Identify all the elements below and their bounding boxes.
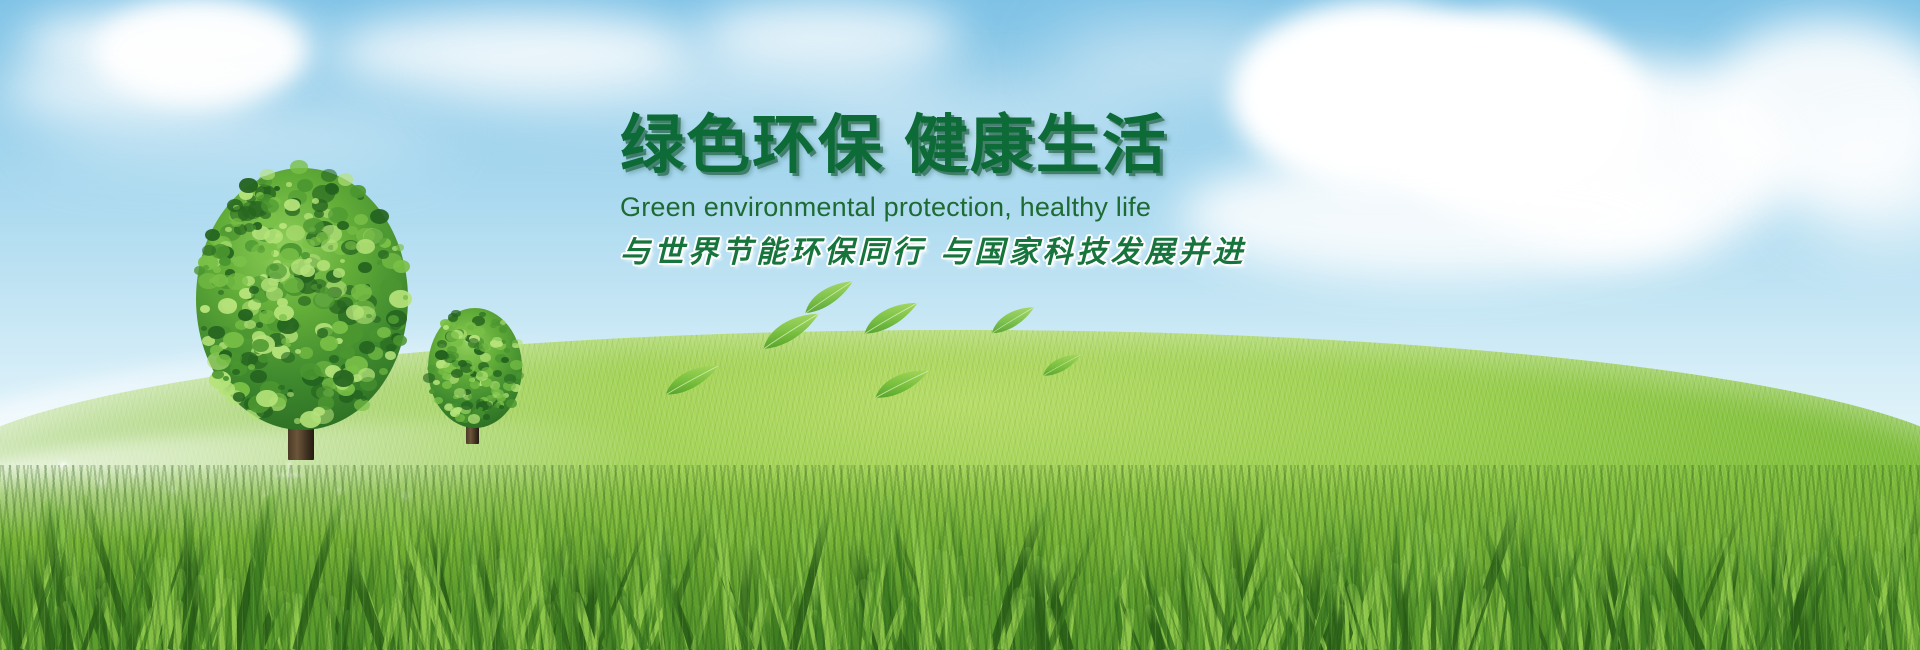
- banner-text-block: 绿色环保 健康生活 Green environmental protection…: [620, 112, 1410, 271]
- small-tree-foliage-clump: [469, 378, 474, 382]
- small-tree-foliage-clump: [475, 389, 481, 393]
- small-tree-foliage-clump: [451, 369, 462, 378]
- small-tree-foliage-clump: [435, 350, 448, 360]
- small-tree-foliage-clump: [446, 331, 459, 341]
- small-tree-foliage-clump: [500, 320, 506, 325]
- tall-grass-texture: [0, 465, 1920, 650]
- small-tree-foliage-clump: [470, 381, 480, 389]
- small-tree-foliage-clump: [447, 358, 452, 362]
- small-tree-foliage-clump: [512, 343, 518, 347]
- small-tree-foliage-clump: [437, 340, 447, 348]
- small-tree-foliage-clump: [468, 338, 480, 347]
- small-tree-foliage-clump: [455, 414, 465, 422]
- banner-headline: 绿色环保 健康生活: [620, 112, 1410, 179]
- small-tree-foliage-clump: [516, 372, 525, 379]
- banner-calligraphy-slogan: 与世界节能环保同行 与国家科技发展并进: [620, 234, 1410, 272]
- banner-subtitle-english: Green environmental protection, healthy …: [620, 191, 1410, 223]
- small-tree-foliage-clump: [483, 414, 490, 419]
- small-tree-foliage-clump: [427, 365, 436, 372]
- small-tree-foliage-clump: [448, 313, 459, 321]
- hero-banner: 绿色环保 健康生活 Green environmental protection…: [0, 0, 1920, 650]
- small-tree-foliage-clump: [429, 389, 435, 394]
- small-tree-foliage-clump: [491, 319, 499, 325]
- small-tree-foliage-clump: [496, 394, 506, 402]
- small-tree-foliage-clump: [465, 322, 475, 330]
- small-tree-foliage-clump: [510, 360, 523, 370]
- small-tree-foliage-clump: [506, 399, 517, 408]
- small-tree-foliage-clump: [495, 341, 503, 347]
- small-tree-foliage-clump: [468, 414, 481, 424]
- small-tree-foliage-clump: [434, 397, 442, 404]
- small-tree-foliage-clump: [499, 326, 507, 333]
